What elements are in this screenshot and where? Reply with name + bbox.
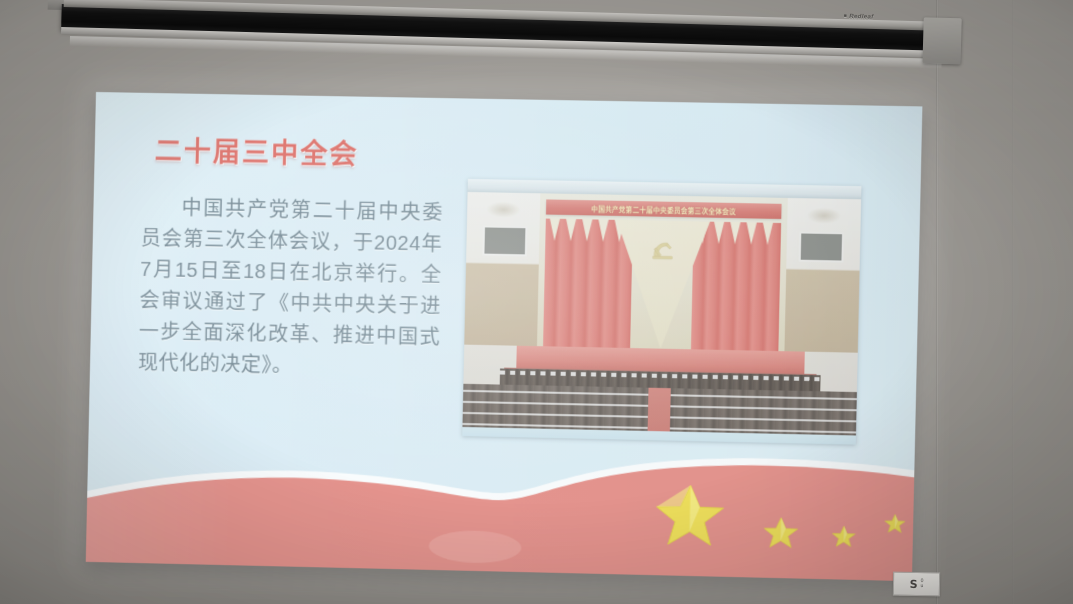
- drape-spike: [762, 223, 773, 245]
- roller-end-cap-right: [922, 17, 961, 64]
- wall-medallion-right: [807, 207, 842, 224]
- slide-body: 中国共产党第二十届中央委员会第三次全体会议，于2024年7月15日至18日在北京…: [138, 193, 443, 385]
- wave-svg: [86, 426, 923, 582]
- classroom-photo-scene: ■Redleaf 二十届三中全会 中国共产党第二十届中央委员会第三次全体会议，于…: [0, 0, 1073, 604]
- drape-spike: [582, 219, 593, 241]
- session-banner-text: 中国共产党第二十届中央委员会第三次全体会议: [591, 203, 736, 216]
- wall-panel-seam: [1012, 0, 1014, 604]
- drape-spike: [730, 222, 741, 244]
- wall-sticker-label: S 0 u: [893, 572, 940, 597]
- stage-drapes-left: [543, 219, 633, 348]
- hall-window-right: [799, 231, 844, 262]
- projected-slide: 二十届三中全会 中国共产党第二十届中央委员会第三次全体会议，于2024年7月15…: [86, 92, 923, 581]
- wave-fill: [86, 450, 923, 581]
- projector-brand-logo: ■Redleaf: [844, 13, 874, 20]
- drape-spike: [598, 220, 609, 242]
- wall-medallion-left: [486, 201, 521, 218]
- hall-window-left: [482, 225, 527, 256]
- drape-spike: [714, 222, 725, 244]
- slide-body-paragraph: 中国共产党第二十届中央委员会第三次全体会议，于2024年7月15日至18日在北京…: [138, 193, 443, 385]
- drape-spike: [746, 222, 757, 244]
- center-aisle-carpet: [648, 388, 671, 433]
- wall-panel-seam: [936, 0, 939, 604]
- drape-spike: [566, 219, 577, 241]
- wall-label-main: S: [910, 577, 918, 590]
- slide-title: 二十届三中全会: [154, 129, 359, 172]
- stage-drapes-right: [691, 221, 781, 351]
- plenary-session-photo: 中国共产党第二十届中央委员会第三次全体会议: [462, 179, 861, 445]
- wall-label-sub: 0 u: [921, 579, 924, 589]
- drape-spike: [549, 219, 560, 241]
- red-wave-graphic: [86, 426, 923, 582]
- hammer-and-sickle-emblem: [649, 239, 676, 264]
